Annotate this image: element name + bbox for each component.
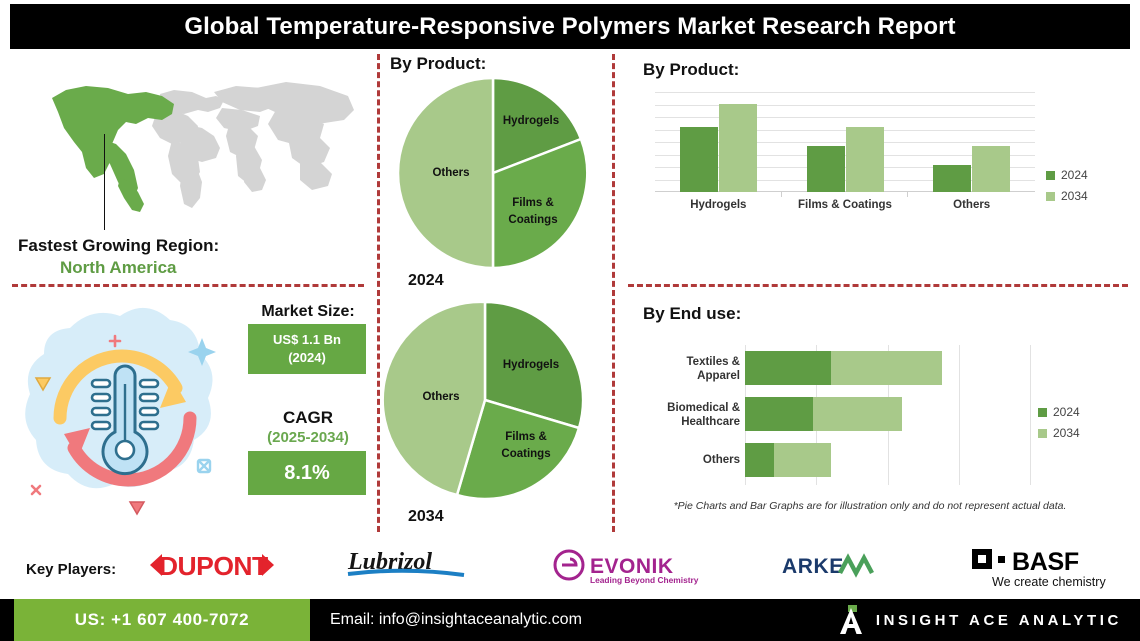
market-size-year: (2024): [288, 349, 326, 367]
bar-chart-legend: 2024 2034: [1046, 168, 1088, 210]
bar-category-label: Others: [908, 199, 1035, 211]
stacked-category-label: Biomedical &Healthcare: [650, 401, 740, 430]
market-size-value: US$ 1.1 Bn: [273, 331, 341, 349]
cagr-box: 8.1%: [248, 451, 366, 495]
bar-2034: [972, 146, 1010, 192]
legend-label: 2034: [1053, 426, 1080, 440]
thermometer-cycle-icon: [14, 300, 236, 518]
legend-label: 2034: [1061, 189, 1088, 203]
stacked-segment-2034: [831, 351, 942, 385]
pie-chart-2034: Hydrogels Films & Coatings Others: [383, 300, 588, 500]
pie-section-title: By Product:: [390, 54, 486, 74]
gridline: [1030, 345, 1031, 485]
pie-year-2024: 2024: [408, 272, 444, 290]
cagr-years: (2025-2034): [245, 429, 371, 446]
legend-item-2034: 2034: [1046, 189, 1088, 203]
footer-email-text: Email: info@insightaceanalytic.com: [330, 611, 582, 629]
pie-slice-label: Films &: [505, 431, 547, 443]
cagr-label: CAGR: [245, 408, 371, 428]
bar-group: [655, 92, 782, 192]
gridline: [959, 345, 960, 485]
pie-year-2034: 2034: [408, 508, 444, 526]
stacked-category-label: Textiles &Apparel: [650, 355, 740, 384]
key-players-label: Key Players:: [26, 561, 116, 578]
svg-text:Leading Beyond Chemistry: Leading Beyond Chemistry: [590, 575, 699, 585]
page-footer: US: +1 607 400-7072 Email: info@insighta…: [0, 599, 1140, 641]
stacked-plot-area: [745, 345, 1030, 485]
infographic-page: Global Temperature-Responsive Polymers M…: [0, 0, 1140, 641]
insightace-a-logo: [838, 605, 864, 635]
bar-2024: [680, 127, 718, 192]
legend-swatch-icon: [1046, 192, 1055, 201]
legend-label: 2024: [1053, 405, 1080, 419]
legend-item-2024: 2024: [1046, 168, 1088, 182]
stacked-bar-row: [745, 397, 902, 431]
page-title: Global Temperature-Responsive Polymers M…: [184, 13, 955, 41]
page-header: Global Temperature-Responsive Polymers M…: [10, 4, 1130, 49]
svg-text:We create chemistry: We create chemistry: [992, 575, 1106, 589]
legend-swatch-icon: [1038, 408, 1047, 417]
legend-item-2024: 2024: [1038, 405, 1080, 419]
world-map-icon: [8, 62, 368, 222]
svg-text:DUPONT: DUPONT: [159, 551, 268, 581]
pie-slice-label: Others: [432, 167, 469, 179]
arkema-logo: ARKE: [782, 553, 910, 584]
stacked-bar-chart: Textiles &ApparelBiomedical &HealthcareO…: [650, 345, 1030, 485]
bar-group: [782, 92, 909, 192]
legend-swatch-icon: [1046, 171, 1055, 180]
bar-plot-area: [655, 92, 1035, 192]
footer-brand-text: INSIGHT ACE ANALYTIC: [876, 612, 1122, 629]
svg-text:ARKE: ARKE: [782, 555, 844, 578]
bar-2034: [719, 104, 757, 192]
evonik-logo: EVONIK Leading Beyond Chemistry: [552, 549, 712, 590]
bar-2024: [933, 165, 971, 192]
pie-slice-label: Coatings: [501, 448, 550, 460]
footer-phone-block[interactable]: US: +1 607 400-7072: [14, 599, 310, 641]
fastest-growing-region: North America: [60, 258, 360, 278]
dupont-logo: DUPONT: [146, 548, 278, 587]
stacked-bar-row: [745, 443, 831, 477]
market-size-label: Market Size:: [245, 303, 371, 321]
pie-slice-label: Hydrogels: [503, 359, 559, 371]
lubrizol-logo: Lubrizol: [344, 548, 468, 587]
stacked-bar-row: [745, 351, 942, 385]
bar-category-label: Hydrogels: [655, 199, 782, 211]
stacked-segment-2034: [774, 443, 831, 477]
bar-groups: [655, 92, 1035, 192]
bar-group: [908, 92, 1035, 192]
end-use-chart-title: By End use:: [643, 304, 741, 324]
horizontal-divider-left: [12, 284, 364, 287]
market-size-box: US$ 1.1 Bn (2024): [248, 324, 366, 374]
basf-logo: BASF We create chemistry: [972, 545, 1120, 594]
legend-label: 2024: [1061, 168, 1088, 182]
footer-phone-text: US: +1 607 400-7072: [75, 610, 249, 630]
legend-item-2034: 2034: [1038, 426, 1080, 440]
bar-2024: [807, 146, 845, 192]
pie-slice-label: Hydrogels: [503, 115, 559, 127]
footer-brand: INSIGHT ACE ANALYTIC: [838, 599, 1122, 641]
cagr-value: 8.1%: [284, 462, 330, 485]
stacked-segment-2024: [745, 397, 813, 431]
stacked-segment-2034: [813, 397, 901, 431]
horizontal-divider-right: [628, 284, 1128, 287]
stacked-segment-2024: [745, 351, 831, 385]
stacked-chart-legend: 2024 2034: [1038, 405, 1080, 447]
map-pointer-line: [104, 134, 105, 230]
pie-slice-label: Films &: [512, 197, 554, 209]
bar-chart-title: By Product:: [643, 60, 739, 80]
pie-slice-label: Others: [422, 391, 459, 403]
legend-swatch-icon: [1038, 429, 1047, 438]
svg-text:BASF: BASF: [1012, 548, 1079, 576]
pie-slice-label: Coatings: [508, 214, 557, 226]
vertical-divider-right: [612, 54, 615, 532]
bar-category-labels: HydrogelsFilms & CoatingsOthers: [655, 199, 1035, 211]
chart-footnote: *Pie Charts and Bar Graphs are for illus…: [650, 500, 1090, 512]
fastest-growing-label: Fastest Growing Region:: [18, 236, 358, 256]
stacked-segment-2024: [745, 443, 774, 477]
grouped-bar-chart: HydrogelsFilms & CoatingsOthers: [655, 92, 1035, 207]
bar-category-label: Films & Coatings: [782, 199, 909, 211]
pie-chart-2024: Hydrogels Films & Coatings Others: [393, 78, 593, 268]
vertical-divider-left: [377, 54, 380, 532]
footer-email-block[interactable]: Email: info@insightaceanalytic.com: [330, 599, 582, 641]
bar-2034: [846, 127, 884, 192]
stacked-category-label: Others: [650, 453, 740, 467]
